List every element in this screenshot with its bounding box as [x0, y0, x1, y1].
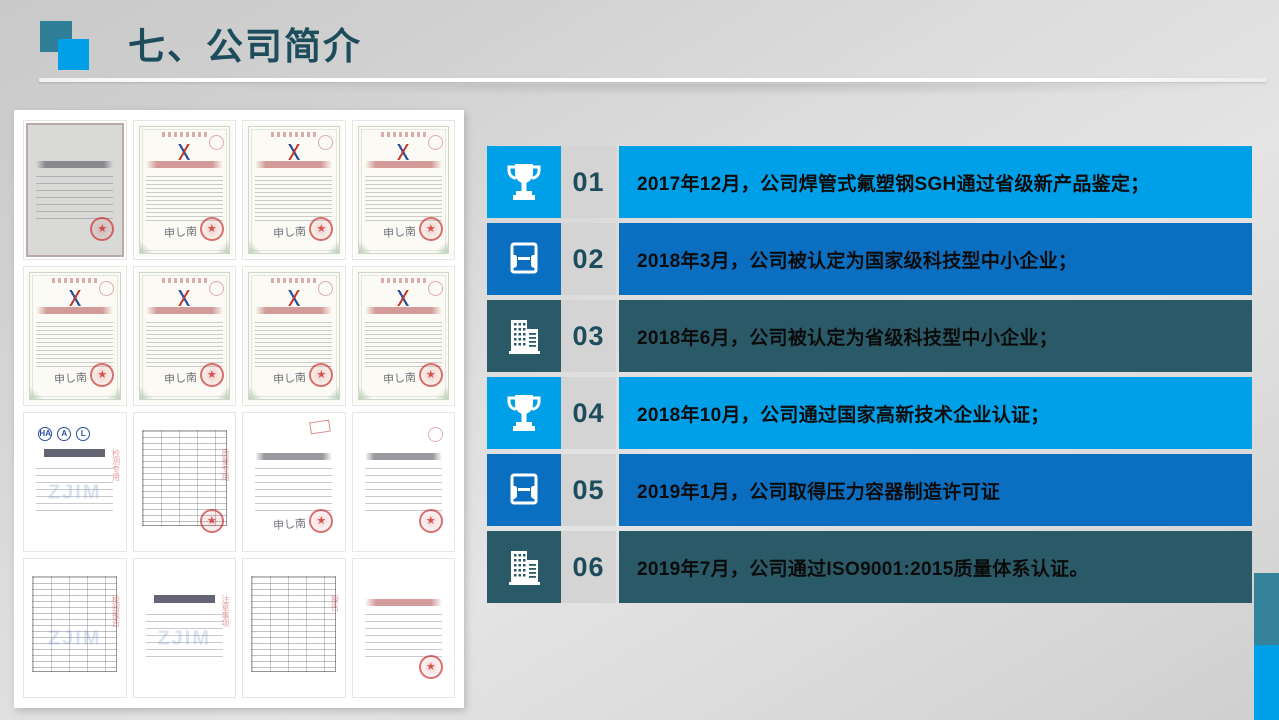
certificate-thumbnail[interactable]: 质量专用 [133, 412, 237, 552]
certificate-grid: 申し南 申し南 申し南 申し南 [14, 110, 464, 708]
certificate-thumbnail[interactable] [23, 120, 127, 260]
milestone-text: 2017年12月，公司焊管式氟塑钢SGH通过省级新产品鉴定； [619, 146, 1252, 218]
milestone-text: 2018年3月，公司被认定为国家级科技型中小企业； [619, 223, 1252, 295]
decorative-square-light [58, 39, 89, 70]
milestone-number: 03 [561, 300, 616, 372]
certificate-thumbnail[interactable]: 申し南 [23, 266, 127, 406]
certificate-thumbnail[interactable]: ZJIM 检验报告 [23, 558, 127, 698]
milestone-row[interactable]: 04 2018年10月，公司通过国家高新技术企业认证； [487, 377, 1252, 449]
watermark-text: ZJIM [157, 628, 211, 651]
certificate-thumbnail[interactable]: ZJIM 注意事项 [133, 558, 237, 698]
certificate-thumbnail[interactable] [352, 412, 456, 552]
milestone-text: 2018年6月，公司被认定为省级科技型中小企业； [619, 300, 1252, 372]
milestone-text: 2019年1月，公司取得压力容器制造许可证 [619, 454, 1252, 526]
edge-decoration-cyan [1254, 645, 1279, 720]
edge-decoration-teal [1254, 573, 1279, 645]
certificate-thumbnail[interactable]: 申し南 [352, 120, 456, 260]
milestone-row[interactable]: 02 2018年3月，公司被认定为国家级科技型中小企业； [487, 223, 1252, 295]
milestone-number: 06 [561, 531, 616, 603]
milestone-list: 01 2017年12月，公司焊管式氟塑钢SGH通过省级新产品鉴定； 02 201… [487, 146, 1252, 608]
milestone-row[interactable]: 03 2018年6月，公司被认定为省级科技型中小企业； [487, 300, 1252, 372]
buildings-icon [487, 531, 561, 603]
certificate-gallery-panel: 申し南 申し南 申し南 申し南 [14, 110, 464, 708]
certificate-thumbnail[interactable]: HAAL ZJIM 检测专用 [23, 412, 127, 552]
watermark-text: ZJIM [48, 482, 102, 505]
certificate-thumbnail[interactable]: 申し南 [242, 412, 346, 552]
milestone-text: 2019年7月，公司通过ISO9001:2015质量体系认证。 [619, 531, 1252, 603]
trophy-icon [487, 146, 561, 218]
header-divider [39, 78, 1267, 82]
watermark-text: ZJIM [48, 628, 102, 651]
certificate-thumbnail[interactable]: 申し南 [133, 266, 237, 406]
tablet-hands-icon [487, 223, 561, 295]
page-title: 七、公司简介 [128, 16, 362, 70]
buildings-icon [487, 300, 561, 372]
milestone-text: 2018年10月，公司通过国家高新技术企业认证； [619, 377, 1252, 449]
milestone-number: 05 [561, 454, 616, 526]
milestone-row[interactable]: 06 2019年7月，公司通过ISO9001:2015质量体系认证。 [487, 531, 1252, 603]
milestone-number: 04 [561, 377, 616, 449]
slide-header: 七、公司简介 [0, 0, 1279, 92]
certificate-thumbnail[interactable]: 申し南 [242, 120, 346, 260]
slide-canvas: 七、公司简介 申し南 申し南 [0, 0, 1279, 720]
milestone-number: 02 [561, 223, 616, 295]
tablet-hands-icon [487, 454, 561, 526]
milestone-row[interactable]: 01 2017年12月，公司焊管式氟塑钢SGH通过省级新产品鉴定； [487, 146, 1252, 218]
certificate-thumbnail[interactable] [352, 558, 456, 698]
milestone-row[interactable]: 05 2019年1月，公司取得压力容器制造许可证 [487, 454, 1252, 526]
milestone-number: 01 [561, 146, 616, 218]
certificate-thumbnail[interactable]: 申し南 [352, 266, 456, 406]
trophy-icon [487, 377, 561, 449]
certificate-thumbnail[interactable]: 申し南 [133, 120, 237, 260]
header-shadow [180, 84, 1270, 96]
certificate-thumbnail[interactable]: 申し南 [242, 266, 346, 406]
certificate-thumbnail[interactable]: 报告 [242, 558, 346, 698]
